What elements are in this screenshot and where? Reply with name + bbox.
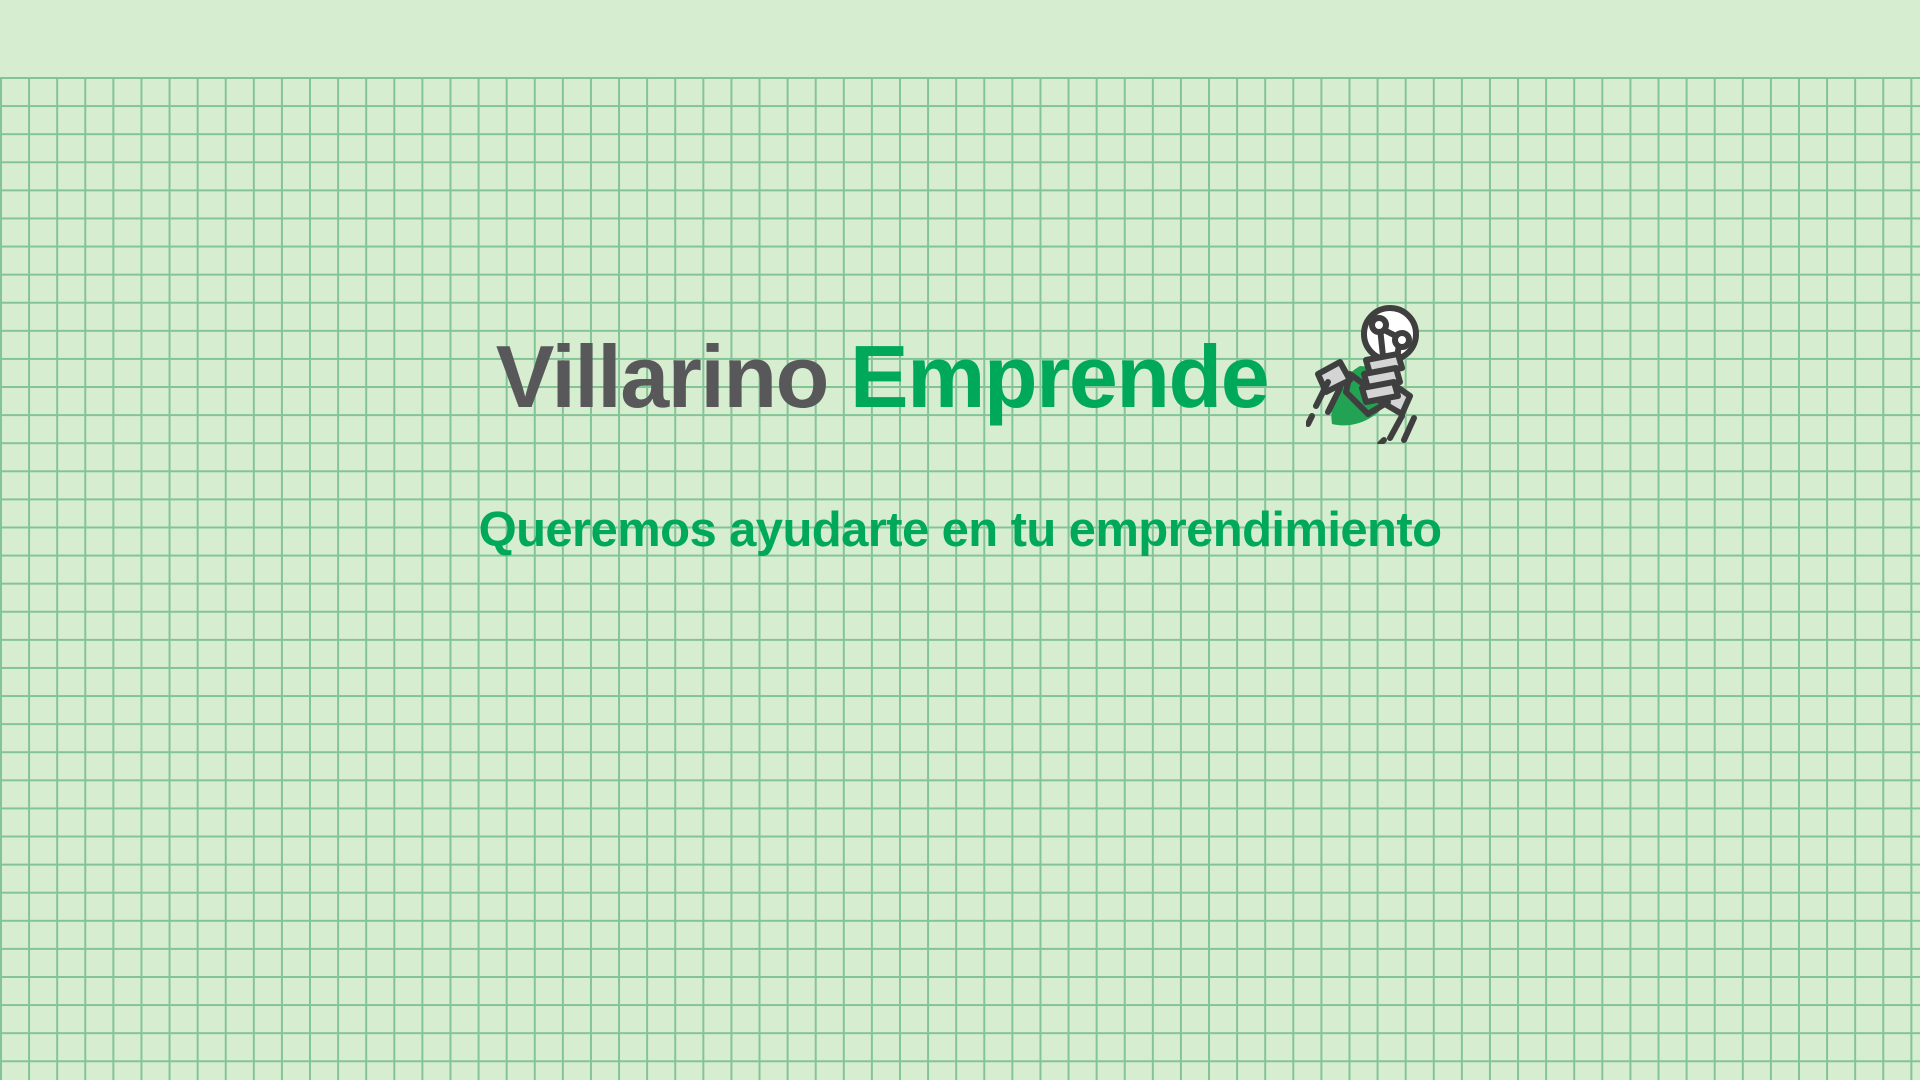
hero-banner: Villarino Emprende [0, 0, 1920, 1080]
title-accent-word: Emprende [850, 333, 1268, 421]
banner-content: Villarino Emprende [0, 0, 1920, 1080]
banner-subtitle: Queremos ayudarte en tu emprendimiento [0, 506, 1920, 555]
banner-title: Villarino Emprende [0, 318, 1920, 436]
lightbulb-rocket-icon [1306, 304, 1424, 444]
title-primary-word: Villarino [496, 333, 828, 421]
